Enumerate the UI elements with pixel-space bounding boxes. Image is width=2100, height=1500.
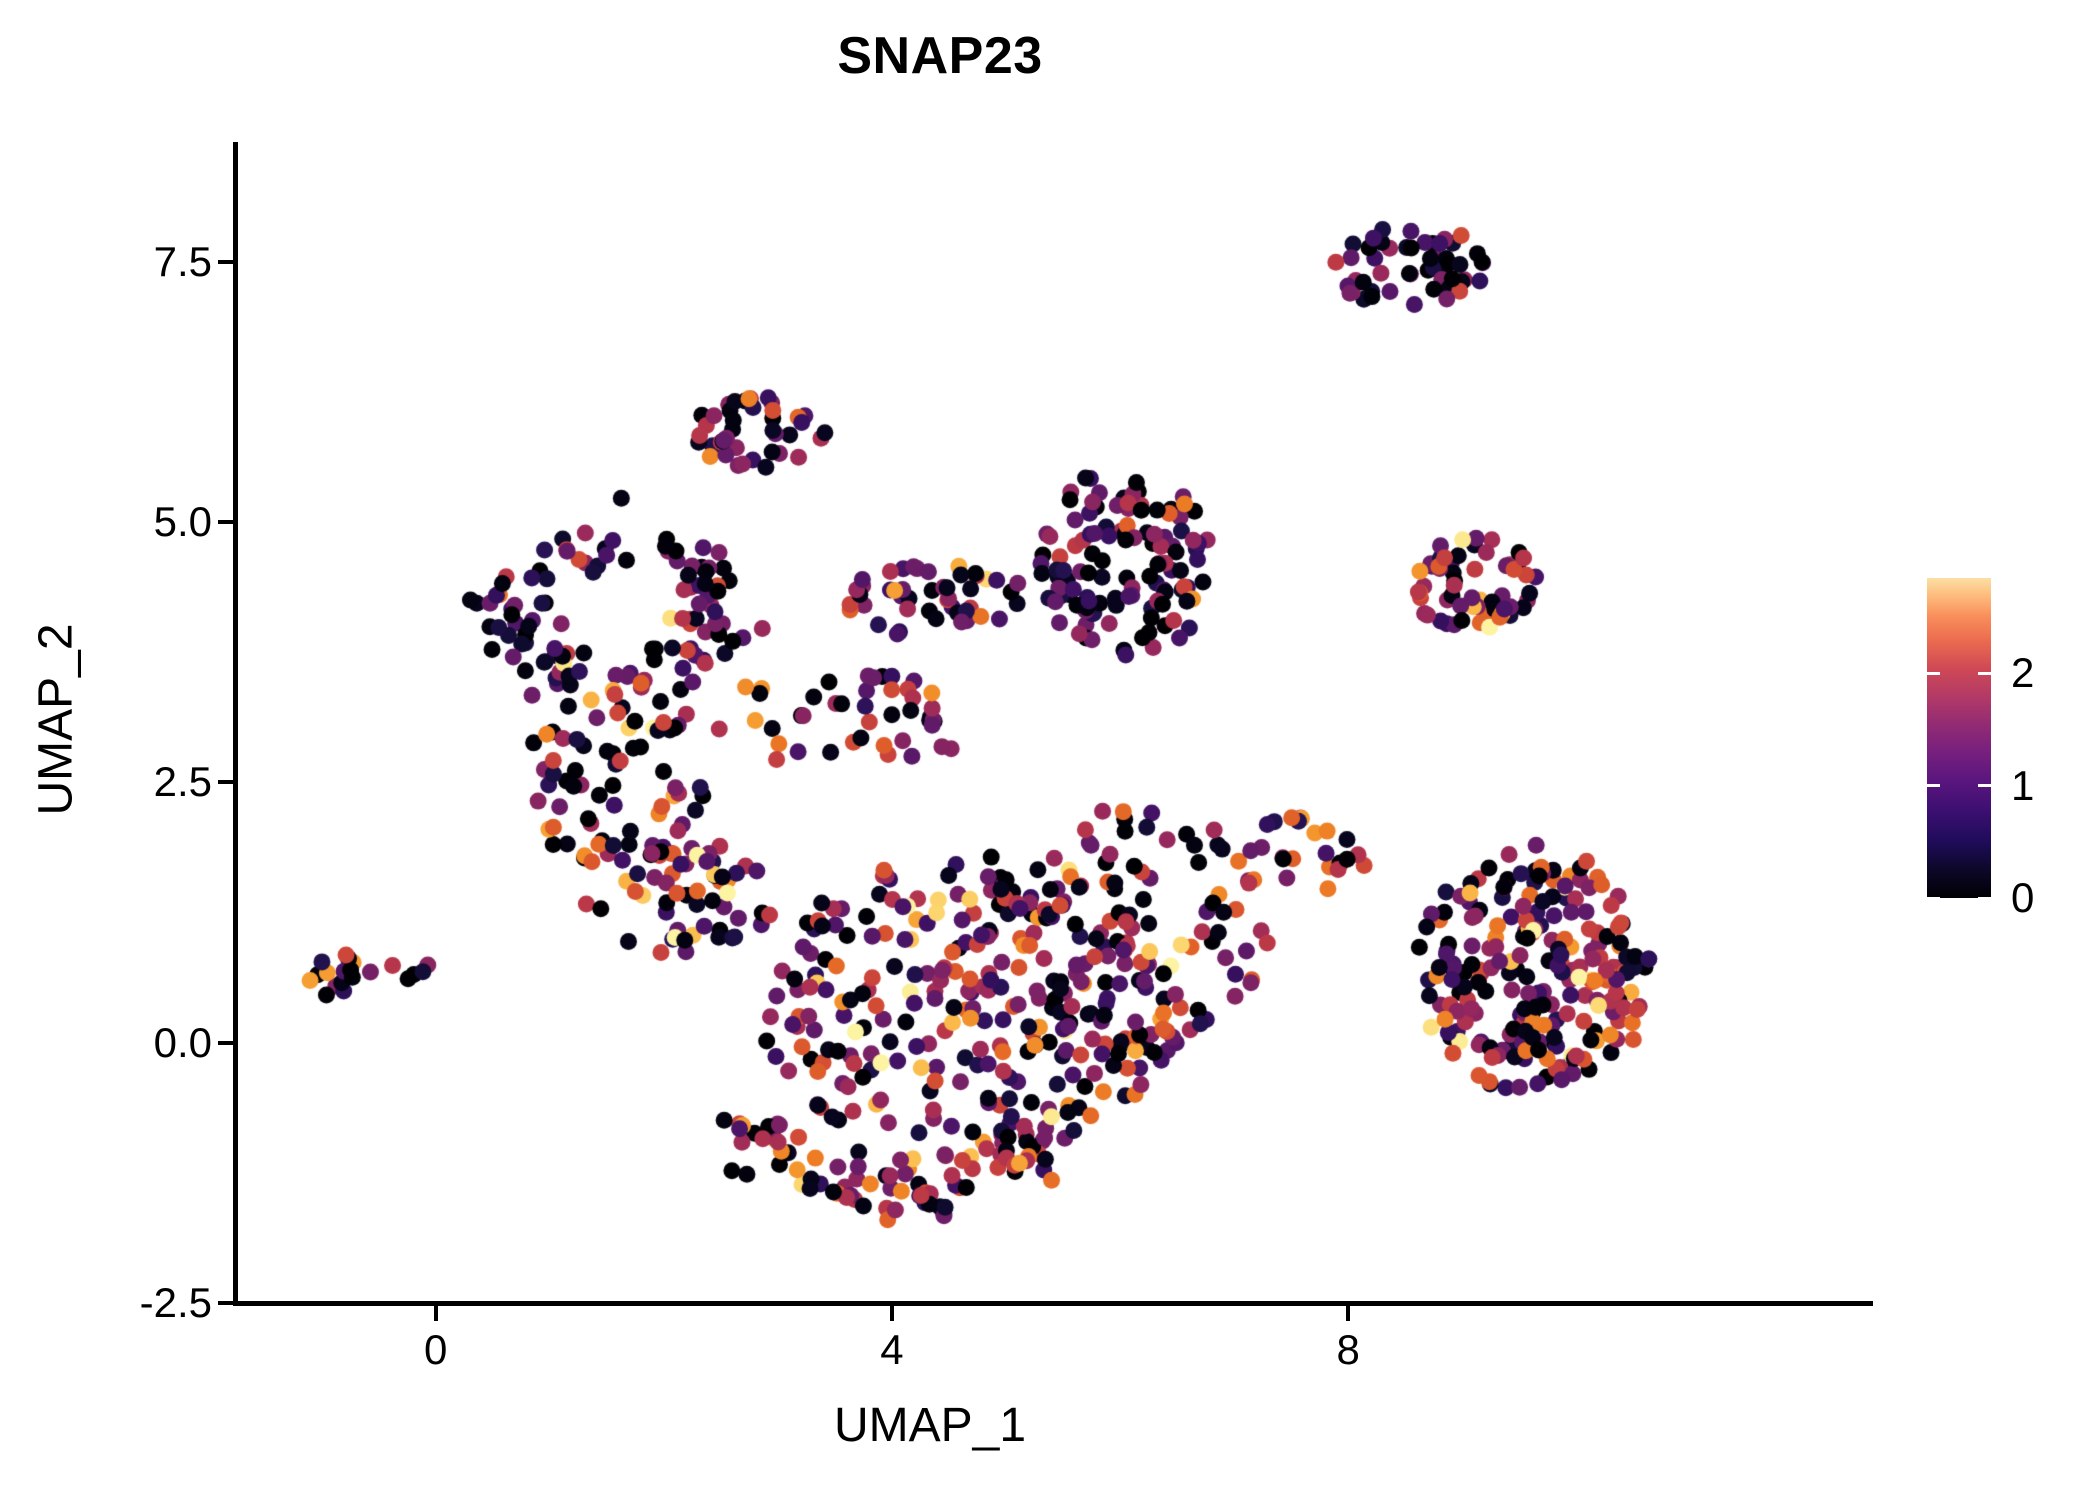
colorbar-legend: 012: [1927, 578, 1991, 898]
x-axis-title: UMAP_1: [0, 1398, 2100, 1453]
y-tick-label: 7.5: [154, 238, 212, 286]
y-tick-mark: [218, 260, 233, 264]
colorbar-tick-label: 0: [2011, 874, 2034, 922]
x-tick-label: 0: [424, 1326, 447, 1374]
plot-panel: [236, 142, 1873, 1303]
colorbar-tick-mark: [1978, 897, 1991, 900]
colorbar-tick-mark: [1927, 897, 1940, 900]
y-tick-label: -2.5: [140, 1279, 212, 1327]
colorbar-tick-mark: [1978, 784, 1991, 787]
y-tick-mark: [218, 780, 233, 784]
scatter-points-layer: [236, 142, 1873, 1303]
y-axis-title: UMAP_2: [29, 220, 84, 1220]
colorbar-tick-label: 2: [2011, 649, 2034, 697]
y-tick-mark: [218, 520, 233, 524]
x-tick-label: 4: [880, 1326, 903, 1374]
colorbar-tick-label: 1: [2011, 762, 2034, 810]
x-axis-title-text: UMAP_1: [834, 1399, 1266, 1452]
x-tick-mark: [890, 1306, 894, 1321]
x-tick-mark: [434, 1306, 438, 1321]
y-tick-label: 5.0: [154, 498, 212, 546]
colorbar-tick-mark: [1927, 672, 1940, 675]
colorbar-tick-mark: [1927, 784, 1940, 787]
colorbar-gradient: [1927, 578, 1991, 898]
y-tick-mark: [218, 1041, 233, 1045]
colorbar-tick-mark: [1978, 672, 1991, 675]
x-tick-mark: [1346, 1306, 1350, 1321]
page-title: SNAP23: [0, 26, 1880, 86]
y-tick-label: 2.5: [154, 758, 212, 806]
x-tick-label: 8: [1337, 1326, 1360, 1374]
y-tick-mark: [218, 1301, 233, 1305]
y-tick-label: 0.0: [154, 1019, 212, 1067]
x-axis-line: [233, 1301, 1873, 1306]
figure-root: SNAP23 -2.50.02.55.07.5 048 UMAP_1 UMAP_…: [0, 0, 2100, 1500]
y-axis-line: [233, 142, 238, 1306]
